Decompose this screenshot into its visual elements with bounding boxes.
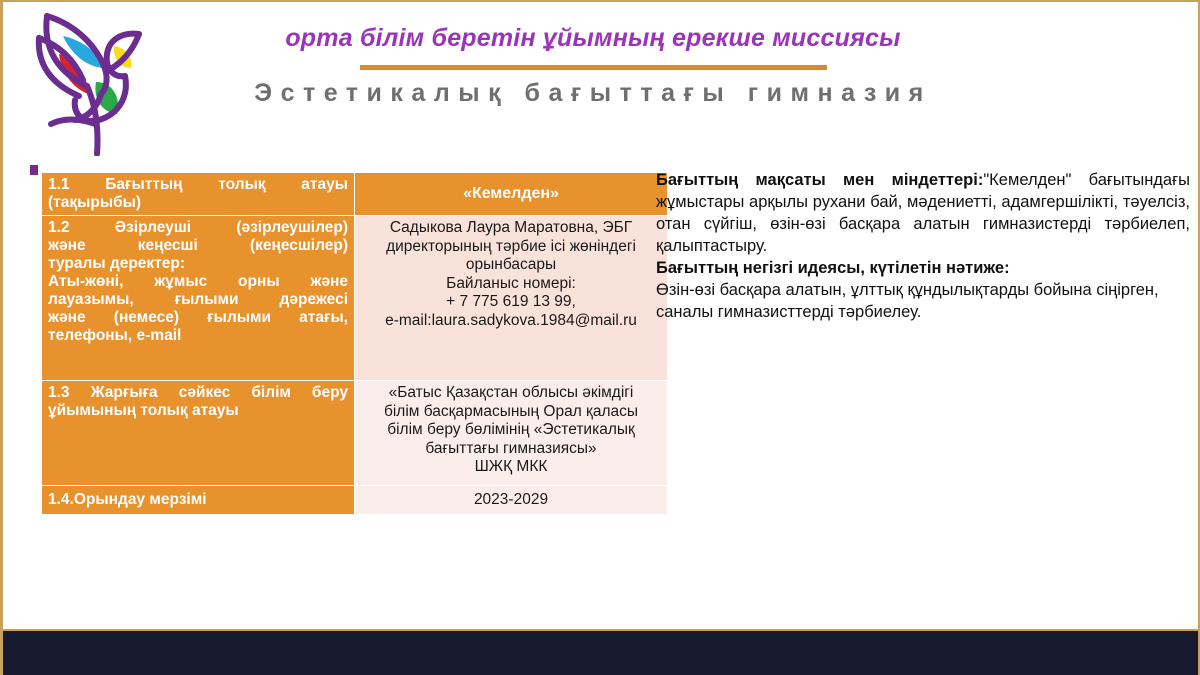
row-2-label-line-4: Аты-жөні, жұмыс орны және	[48, 273, 348, 291]
row-3-value-cell: «Батыс Қазақстан облысы әкімдігі білім б…	[355, 380, 668, 485]
goal-paragraph: Бағыттың мақсаты мен міндеттері:"Кемелде…	[656, 170, 1190, 258]
contact-position-2: орынбасары	[361, 256, 661, 275]
table-row: 1.4.Орындау мерзімі 2023-2029	[42, 485, 668, 514]
goal-heading: Бағыттың мақсаты мен міндеттері:	[656, 171, 983, 189]
org-name-line-3: білім беру бөлімінің «Эстетикалық	[361, 421, 661, 440]
table-row: 1.2 Әзірлеуші (әзірлеушілер) және кеңесш…	[42, 215, 668, 380]
goals-text-block: Бағыттың мақсаты мен міндеттері:"Кемелде…	[656, 170, 1190, 324]
idea-heading-paragraph: Бағыттың негізгі идеясы, күтілетін нәтиж…	[656, 258, 1190, 280]
row-1-label-line-2: (тақырыбы)	[48, 194, 348, 212]
page-subtitle: Эстетикалық бағыттағы гимназия	[243, 79, 943, 108]
bullet-marker	[30, 165, 38, 175]
org-name-line-2: білім басқармасының Орал қаласы	[361, 403, 661, 422]
row-1-value-cell: «Кемелден»	[355, 173, 668, 216]
table-row: 1.3 Жарғыға сәйкес білім беру ұйымының т…	[42, 380, 668, 485]
slide-header: орта білім беретін ұйымның ерекше миссия…	[243, 24, 943, 108]
row-1-label-cell: 1.1 Бағыттың толық атауы (тақырыбы)	[42, 173, 355, 216]
header-divider	[360, 65, 827, 70]
row-2-label-cell: 1.2 Әзірлеуші (әзірлеушілер) және кеңесш…	[42, 215, 355, 380]
row-2-label-line-7: телефоны, e-mail	[48, 327, 348, 345]
project-info-table: 1.1 Бағыттың толық атауы (тақырыбы) «Кем…	[41, 172, 668, 515]
org-name-line-4: бағыттағы гимназиясы»	[361, 440, 661, 459]
slide-canvas: орта білім беретін ұйымның ерекше миссия…	[0, 0, 1200, 675]
row-2-label-line-6: және (немесе) ғылыми атағы,	[48, 309, 348, 327]
contact-email: e-mail:laura.sadykova.1984@mail.ru	[361, 312, 661, 331]
org-name-line-1: «Батыс Қазақстан облысы әкімдігі	[361, 384, 661, 403]
idea-heading: Бағыттың негізгі идеясы, күтілетін нәтиж…	[656, 259, 1010, 277]
page-title: орта білім беретін ұйымның ерекше миссия…	[243, 24, 943, 53]
row-2-label-line-3: туралы деректер:	[48, 255, 348, 273]
idea-text: Өзін-өзі басқара алатын, ұлттық құндылық…	[656, 280, 1190, 324]
gymnasium-flower-logo	[17, 6, 169, 156]
org-legal-form: ШЖҚ МКК	[361, 458, 661, 477]
contact-phone-number: + 7 775 619 13 99,	[361, 293, 661, 312]
contact-position-1: директорының тәрбие ісі жөніндегі	[361, 238, 661, 257]
row-2-label-line-2: және кеңесші (кеңесшілер)	[48, 237, 348, 255]
row-3-label-line-1: 1.3 Жарғыға сәйкес білім беру	[48, 384, 348, 402]
row-1-label-line-1: 1.1 Бағыттың толық атауы	[48, 176, 348, 194]
row-4-label-cell: 1.4.Орындау мерзімі	[42, 485, 355, 514]
contact-phone-label: Байланыс номері:	[361, 275, 661, 294]
table-row: 1.1 Бағыттың толық атауы (тақырыбы) «Кем…	[42, 173, 668, 216]
row-2-value-cell: Садыкова Лаура Маратовна, ЭБГ директорын…	[355, 215, 668, 380]
row-2-label-line-5: лауазымы, ғылыми дәрежесі	[48, 291, 348, 309]
contact-name: Садыкова Лаура Маратовна, ЭБГ	[361, 219, 661, 238]
row-2-label-line-1: 1.2 Әзірлеуші (әзірлеушілер)	[48, 219, 348, 237]
row-4-value-cell: 2023-2029	[355, 485, 668, 514]
bottom-bar	[3, 631, 1198, 675]
row-3-label-cell: 1.3 Жарғыға сәйкес білім беру ұйымының т…	[42, 380, 355, 485]
row-3-label-line-2: ұйымының толық атауы	[48, 402, 348, 420]
